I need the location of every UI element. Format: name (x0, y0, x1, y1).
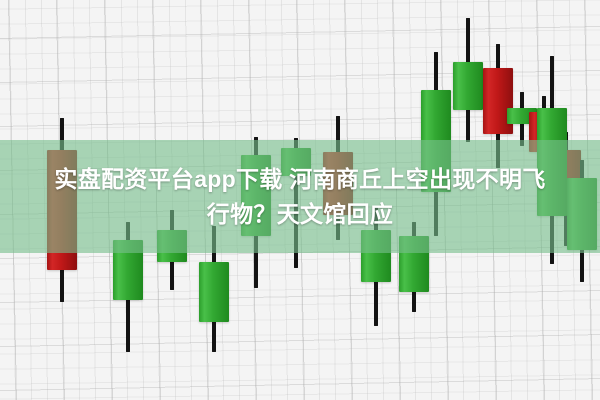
candlestick-body-down (483, 68, 513, 134)
candlestick-chart-banner: 实盘配资平台app下载 河南商丘上空出现不明飞 行物？天文馆回应 (0, 0, 600, 400)
candlestick-body-up (199, 262, 229, 322)
headline-overlay: 实盘配资平台app下载 河南商丘上空出现不明飞 行物？天文馆回应 (0, 162, 600, 232)
candlestick-body-up (399, 236, 429, 292)
candlestick-body-up (453, 62, 483, 110)
candlestick-body-up (157, 230, 187, 262)
candlestick-body-up (113, 240, 143, 300)
headline-line-2: 行物？天文馆回应 (8, 197, 592, 232)
headline-line-1: 实盘配资平台app下载 河南商丘上空出现不明飞 (8, 162, 592, 197)
candlestick-body-up (361, 230, 391, 282)
